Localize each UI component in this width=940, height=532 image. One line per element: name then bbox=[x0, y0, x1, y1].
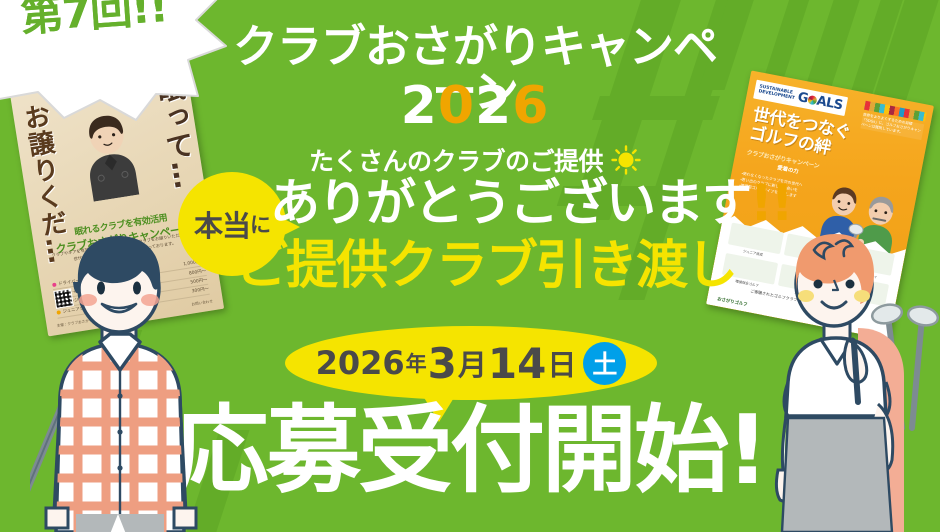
campaign-year: 2026 bbox=[232, 80, 718, 132]
day-of-week-badge: 土 bbox=[583, 342, 626, 385]
campaign-subtitle-row: たくさんのクラブのご提供 bbox=[232, 142, 718, 178]
thanks-exclaim: !! bbox=[750, 174, 792, 232]
year-digit-3: 2 bbox=[475, 76, 512, 136]
date-day-unit: 日 bbox=[547, 342, 576, 384]
year-digit-1: 2 bbox=[401, 76, 438, 136]
date-month-unit: 月 bbox=[458, 342, 487, 384]
year-digit-2: 0 bbox=[438, 76, 475, 136]
date-row: 2026 年 3 月 14 日 土 bbox=[285, 326, 657, 400]
handover-headline: ご提供クラブ引き渡し bbox=[236, 240, 836, 292]
thanks-text: ありがとうございます bbox=[270, 174, 750, 232]
campaign-banner: 眠って… お譲りくだ… 眠れるクラブを有効活用 クラブおさがりキャンペーン 20… bbox=[0, 0, 940, 532]
campaign-subtitle: たくさんのクラブのご提供 bbox=[309, 142, 603, 178]
date-year-unit: 年 bbox=[406, 348, 427, 378]
sdgs-goals-wordmark: GALS bbox=[796, 90, 843, 113]
thanks-headline: ありがとうございます!! bbox=[270, 178, 830, 228]
honto-label-suffix: に bbox=[250, 209, 270, 239]
sun-icon bbox=[611, 145, 641, 175]
character-left bbox=[30, 236, 212, 532]
sdgs-color-wheel-icon bbox=[807, 95, 818, 106]
date-day: 14 bbox=[488, 339, 546, 388]
date-month: 3 bbox=[428, 339, 457, 388]
event-date-bubble: 2026 年 3 月 14 日 土 bbox=[285, 326, 657, 400]
date-year: 2026 bbox=[316, 344, 405, 382]
year-digit-4: 6 bbox=[512, 76, 549, 136]
edition-burst-bubble: 第7回!! bbox=[0, 0, 228, 122]
character-right bbox=[762, 232, 940, 532]
